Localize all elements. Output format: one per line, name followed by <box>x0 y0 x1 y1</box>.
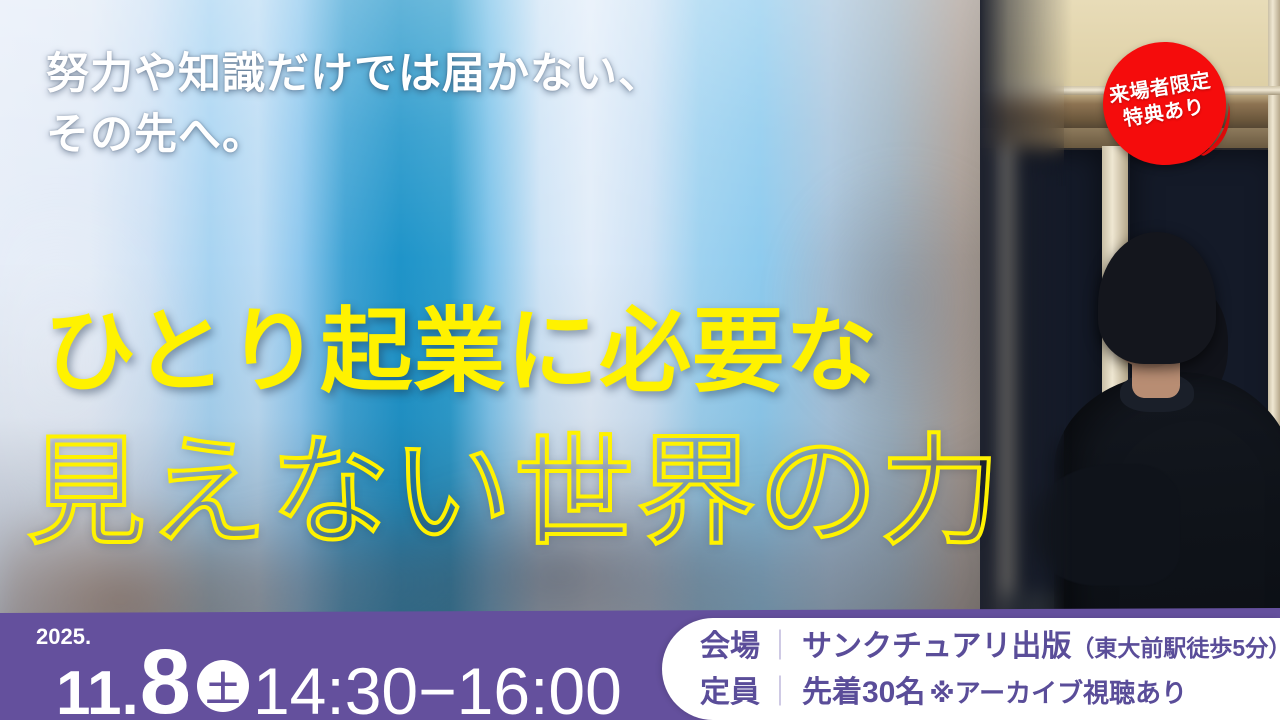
venue-access: （東大前駅徒歩5分） <box>1071 631 1280 666</box>
badge-text: 来場者限定 特典あり <box>1094 33 1235 174</box>
venue-value: サンクチュアリ出版 <box>802 624 1071 670</box>
event-time: 14:30−16:00 <box>253 663 622 720</box>
venue-separator: ｜ <box>765 624 795 670</box>
visitor-bonus-badge: 来場者限定 特典あり <box>1094 33 1235 174</box>
venue-label: 会場 <box>700 624 760 670</box>
date-day: 8 <box>140 645 189 720</box>
title-line-1: ひとり起業に必要な <box>44 306 878 398</box>
date-month: 11. <box>56 667 139 720</box>
event-banner: 来場者限定 特典あり 努力や知識だけでは届かない、 その先へ。 ひとり起業に必要… <box>0 0 1280 720</box>
info-row-venue: 会場 ｜ サンクチュアリ出版 （東大前駅徒歩5分） <box>700 624 1280 670</box>
catchphrase: 努力や知識だけでは届かない、 その先へ。 <box>46 44 662 166</box>
capacity-label: 定員 <box>700 670 760 716</box>
title-line-2: 見えない世界の力 <box>26 432 1002 552</box>
day-of-week-badge: 土 <box>197 660 249 712</box>
info-rows: 会場 ｜ サンクチュアリ出版 （東大前駅徒歩5分） 定員 ｜ 先着30名 ※アー… <box>700 624 1280 715</box>
info-row-capacity: 定員 ｜ 先着30名 ※アーカイブ視聴あり <box>700 670 1280 716</box>
capacity-note: ※アーカイブ視聴あり <box>929 674 1187 714</box>
capacity-value: 先着30名 <box>802 670 925 716</box>
date-time-block: 11. 8 土 14:30−16:00 <box>34 620 622 720</box>
capacity-separator: ｜ <box>765 670 795 716</box>
